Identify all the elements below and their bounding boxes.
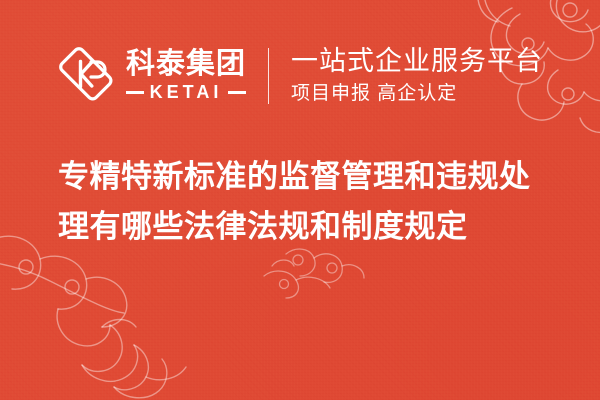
- banner-header: 科泰集团 KETAI 一站式企业服务平台 项目申报 高企认定: [0, 36, 600, 116]
- cloud-pattern-center-icon: [250, 244, 370, 305]
- brand-name-en-row: KETAI: [126, 82, 246, 103]
- brand-tagline: 一站式企业服务平台 项目申报 高企认定: [291, 46, 543, 107]
- brand-wordmark: 科泰集团 KETAI: [126, 49, 246, 102]
- brand-name-en: KETAI: [150, 82, 223, 103]
- brand-logo[interactable]: 科泰集团 KETAI: [58, 46, 246, 107]
- page-title: 专精特新标准的监督管理和违规处理有哪些法律法规和制度规定: [58, 152, 548, 252]
- wordmark-rule-left: [126, 91, 144, 94]
- promo-banner: 科泰集团 KETAI 一站式企业服务平台 项目申报 高企认定 专精特新标准的监督…: [0, 0, 600, 400]
- brand-name-cn: 科泰集团: [126, 49, 246, 79]
- tagline-secondary: 项目申报 高企认定: [291, 82, 543, 107]
- header-vertical-divider: [268, 48, 269, 104]
- tagline-primary: 一站式企业服务平台: [291, 46, 543, 78]
- ketai-diamond-kp-monogram-icon: [58, 46, 114, 107]
- wordmark-rule-right: [228, 91, 246, 94]
